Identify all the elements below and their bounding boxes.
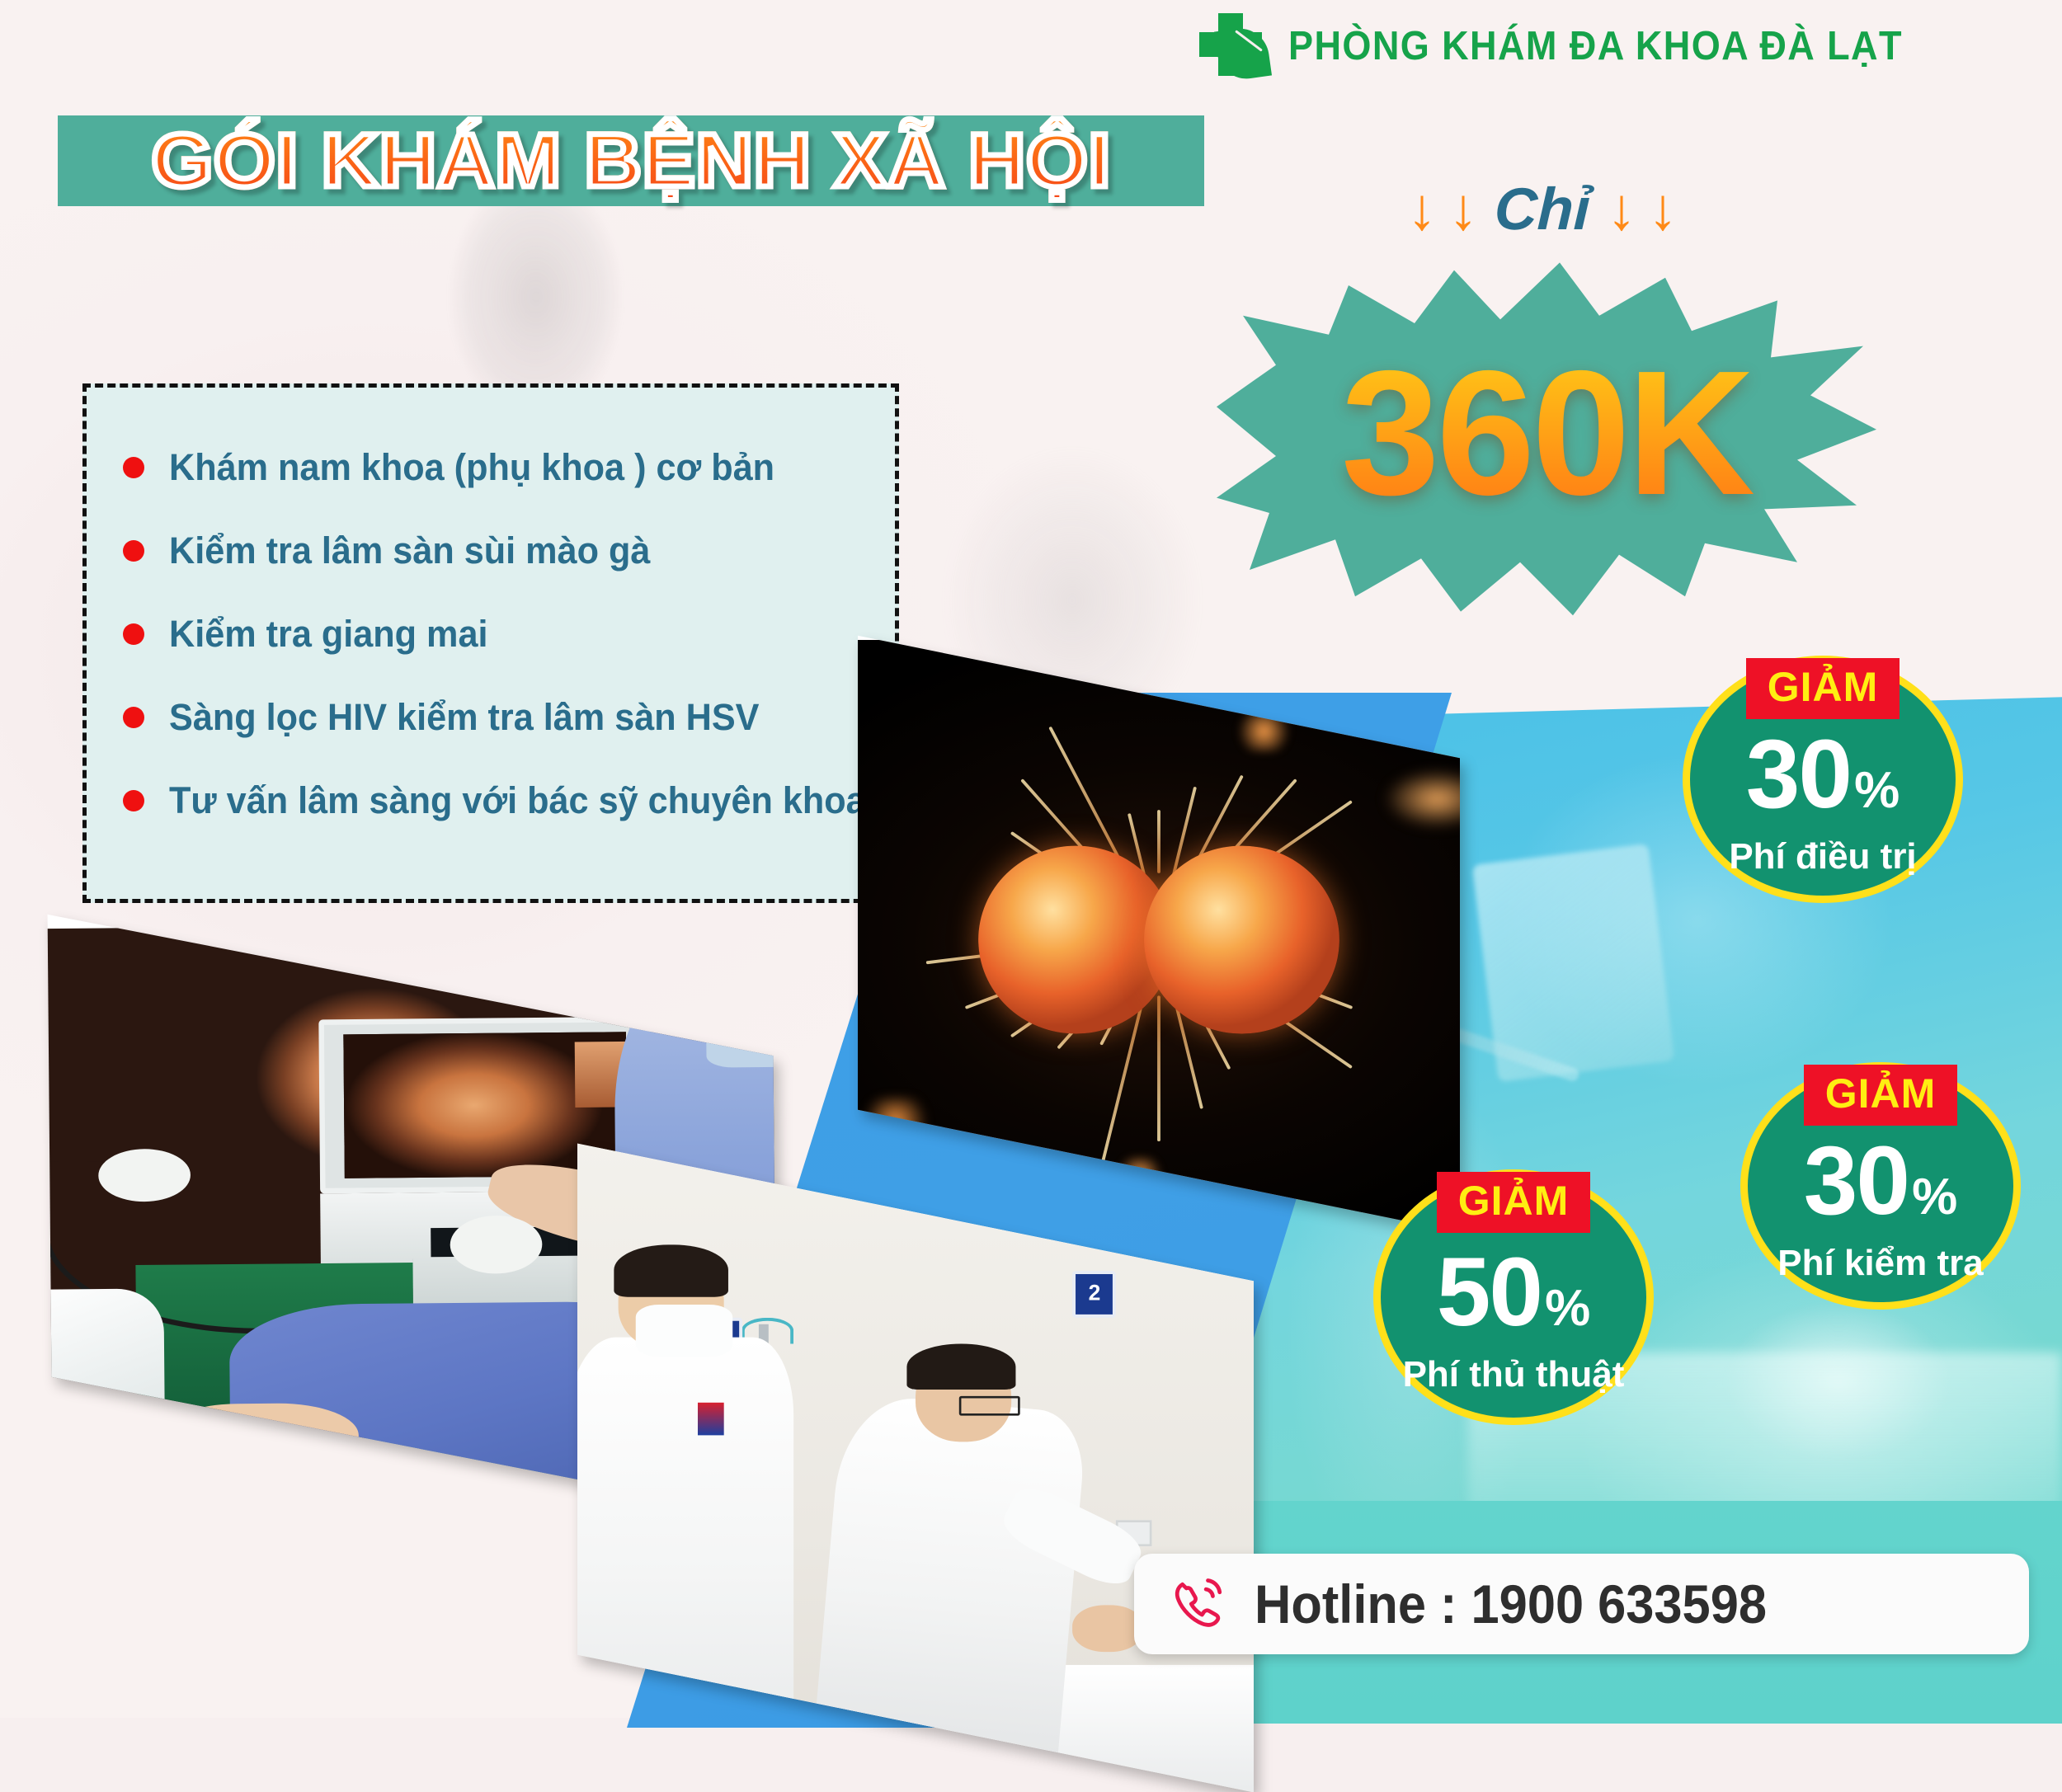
discount-badge-exam: GIẢM 30 % Phí kiểm tra bbox=[1740, 1062, 2021, 1310]
price-prefix-row: ↓ ↓ Chỉ ↓ ↓ bbox=[1369, 170, 1716, 249]
service-label: Kiểm tra lâm sàn sùi mào gà bbox=[169, 529, 650, 572]
discount-caption: Phí kiểm tra bbox=[1777, 1243, 1983, 1284]
service-label: Sàng lọc HIV kiểm tra lâm sàn HSV bbox=[169, 696, 759, 739]
status-badge: GIẢM bbox=[1804, 1065, 1958, 1126]
service-label: Kiểm tra giang mai bbox=[169, 613, 488, 656]
percent-symbol: % bbox=[1912, 1172, 1957, 1223]
phone-ringing-icon bbox=[1169, 1573, 1231, 1635]
price-prefix-label: Chỉ bbox=[1489, 176, 1597, 243]
bullet-dot-icon bbox=[123, 540, 144, 562]
list-item: Kiểm tra giang mai bbox=[123, 592, 862, 675]
discount-badge-treatment: GIẢM 30 % Phí điều trị bbox=[1683, 656, 1963, 903]
bullet-dot-icon bbox=[123, 790, 144, 811]
discount-badge-procedure: GIẢM 50 % Phí thủ thuật bbox=[1373, 1169, 1654, 1425]
list-item: Kiểm tra lâm sàn sùi mào gà bbox=[123, 509, 862, 592]
price-starburst: 360K bbox=[1217, 247, 1876, 627]
list-item: Sàng lọc HIV kiểm tra lâm sàn HSV bbox=[123, 675, 862, 759]
discount-caption: Phí thủ thuật bbox=[1403, 1354, 1625, 1395]
discount-caption: Phí điều trị bbox=[1729, 836, 1916, 877]
percent-symbol: % bbox=[1545, 1283, 1590, 1334]
hotline-number: Hotline : 1900 633598 bbox=[1255, 1573, 1767, 1635]
arrow-down-icon: ↓ bbox=[1448, 180, 1478, 239]
list-item: Khám nam khoa (phụ khoa ) cơ bản bbox=[123, 426, 862, 509]
title-banner: GÓI KHÁM BỆNH XÃ HỘI bbox=[58, 115, 1204, 206]
services-list: Khám nam khoa (phụ khoa ) cơ bản Kiểm tr… bbox=[82, 383, 899, 903]
status-badge: GIẢM bbox=[1746, 658, 1900, 719]
arrow-down-icon: ↓ bbox=[1607, 180, 1636, 239]
bullet-dot-icon bbox=[123, 707, 144, 728]
bullet-dot-icon bbox=[123, 457, 144, 478]
arrow-down-icon: ↓ bbox=[1407, 180, 1437, 239]
percent-symbol: % bbox=[1854, 765, 1900, 816]
hotline-bar[interactable]: Hotline : 1900 633598 bbox=[1134, 1554, 2029, 1654]
ward-sign-2: 2 bbox=[1073, 1272, 1117, 1318]
list-item: Tư vấn lâm sàng với bác sỹ chuyên khoa bbox=[123, 759, 862, 842]
service-label: Tư vấn lâm sàng với bác sỹ chuyên khoa bbox=[169, 779, 866, 822]
discount-value: 30 % bbox=[1746, 726, 1900, 823]
discount-number: 30 bbox=[1804, 1132, 1909, 1230]
discount-number: 50 bbox=[1437, 1244, 1542, 1341]
status-badge: GIẢM bbox=[1437, 1172, 1591, 1233]
cross-leaf-icon bbox=[1196, 10, 1270, 82]
service-label: Khám nam khoa (phụ khoa ) cơ bản bbox=[169, 446, 774, 489]
bullet-dot-icon bbox=[123, 623, 144, 645]
price-amount: 360K bbox=[1217, 247, 1876, 627]
discount-value: 30 % bbox=[1804, 1132, 1957, 1230]
discount-value: 50 % bbox=[1437, 1244, 1590, 1341]
page-title: GÓI KHÁM BỆNH XÃ HỘI bbox=[151, 118, 1111, 205]
brand-name: PHÒNG KHÁM ĐA KHOA ĐÀ LẠT bbox=[1288, 23, 1903, 69]
arrow-down-icon: ↓ bbox=[1648, 180, 1678, 239]
discount-number: 30 bbox=[1746, 726, 1851, 823]
brand-logo: PHÒNG KHÁM ĐA KHOA ĐÀ LẠT bbox=[1196, 7, 2037, 86]
